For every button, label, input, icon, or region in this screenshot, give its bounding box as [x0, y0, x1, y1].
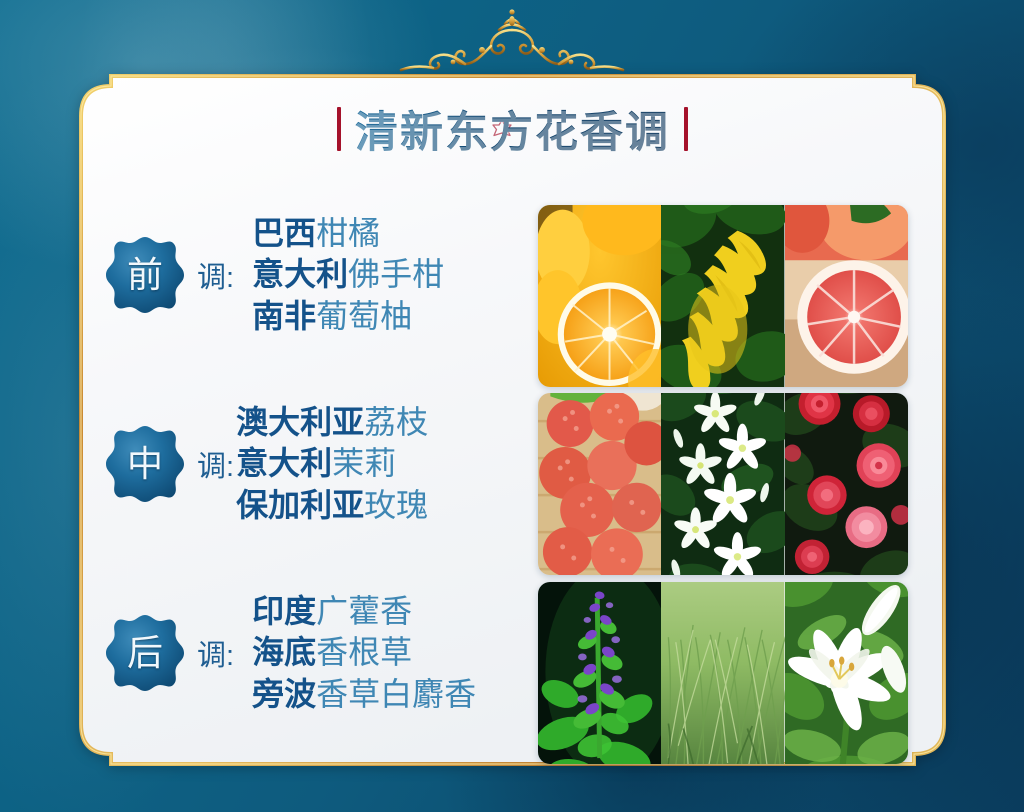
ingredient-text: 香草白麝香	[316, 676, 476, 712]
orange-photo	[538, 205, 661, 387]
note-lines: 巴西柑橘 意大利佛手柑 南非葡萄柚	[252, 213, 444, 338]
origin-text: 旁波	[252, 676, 316, 712]
ingredient-text: 葡萄柚	[316, 298, 412, 334]
title-bar-left	[337, 107, 341, 151]
badge-top-note: 前	[105, 235, 185, 315]
origin-text: 海底	[252, 634, 316, 670]
note-line: 澳大利亚荔枝	[236, 402, 428, 444]
vetiver-grass-photo	[661, 582, 784, 764]
note-line: 南非葡萄柚	[252, 296, 444, 338]
note-line: 旁波香草白麝香	[252, 674, 476, 716]
note-line: 海底香根草	[252, 632, 476, 674]
photo-strip-middle-note	[538, 393, 908, 575]
origin-text: 巴西	[252, 215, 316, 251]
ingredient-text: 荔枝	[364, 404, 428, 440]
photo-strip-top-note	[538, 205, 908, 387]
badge-base-note: 后	[105, 613, 185, 693]
ingredient-text: 广藿香	[316, 593, 412, 629]
title-text: 清新东方花香调	[355, 98, 670, 160]
note-line: 意大利佛手柑	[252, 254, 444, 296]
origin-text: 印度	[252, 593, 316, 629]
title-bar-right	[684, 107, 688, 151]
grapefruit-photo	[785, 205, 908, 387]
ingredient-text: 佛手柑	[348, 256, 444, 292]
gold-filigree-crown-icon	[387, 4, 637, 74]
note-line: 保加利亚玫瑰	[236, 485, 428, 527]
note-lines: 澳大利亚荔枝 意大利茉莉 保加利亚玫瑰	[236, 402, 428, 527]
jasmine-photo	[661, 393, 784, 575]
note-label: 调:	[197, 254, 234, 296]
note-line: 巴西柑橘	[252, 213, 444, 255]
origin-text: 南非	[252, 298, 316, 334]
note-line: 意大利茉莉	[236, 443, 428, 485]
note-label: 调:	[197, 443, 234, 485]
origin-text: 保加利亚	[236, 487, 364, 523]
patchouli-photo	[538, 582, 661, 764]
lychee-photo	[538, 393, 661, 575]
page-title: 清新东方花香调	[75, 98, 950, 160]
note-lines: 印度广藿香 海底香根草 旁波香草白麝香	[252, 591, 476, 716]
content-card: 清新东方花香调	[75, 70, 950, 770]
buddhas-hand-photo	[661, 205, 784, 387]
note-line: 印度广藿香	[252, 591, 476, 633]
note-label: 调:	[197, 632, 234, 674]
rose-photo	[785, 393, 908, 575]
origin-text: 意大利	[236, 445, 332, 481]
photo-strip-base-note	[538, 582, 908, 764]
lily-photo	[785, 582, 908, 764]
badge-middle-note: 中	[105, 424, 185, 504]
ingredient-text: 玫瑰	[364, 487, 428, 523]
ingredient-text: 柑橘	[316, 215, 380, 251]
badge-label: 后	[127, 635, 163, 671]
ingredient-text: 香根草	[316, 634, 412, 670]
badge-label: 中	[127, 446, 163, 482]
origin-text: 澳大利亚	[236, 404, 364, 440]
origin-text: 意大利	[252, 256, 348, 292]
badge-label: 前	[127, 257, 163, 293]
ingredient-text: 茉莉	[332, 445, 396, 481]
